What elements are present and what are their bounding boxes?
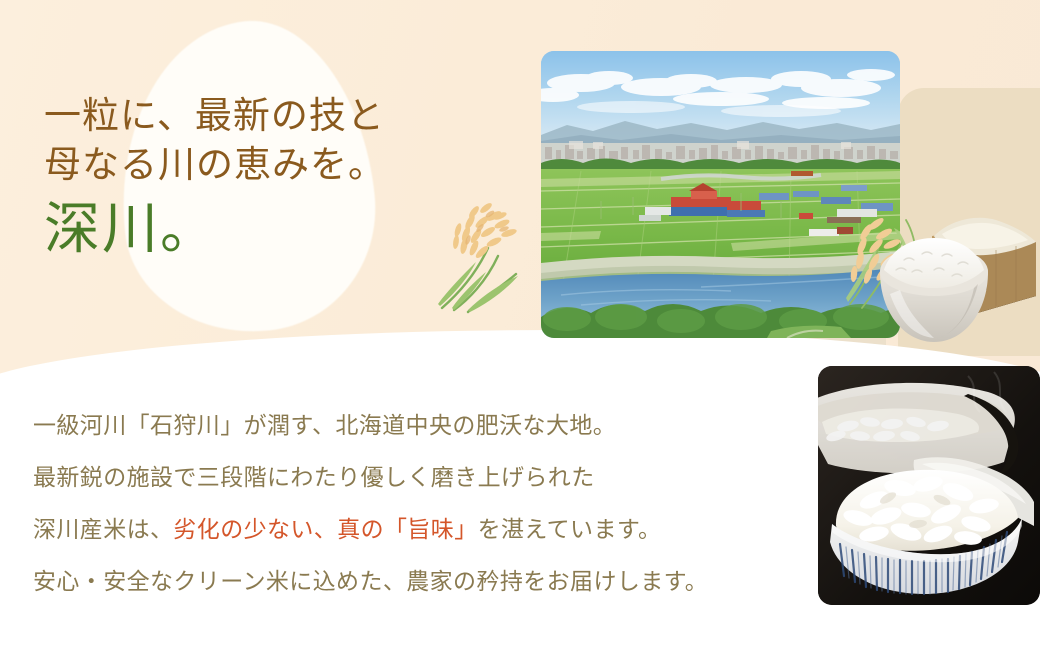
rice-bowl-and-masu-illustration [846, 176, 1040, 362]
body-copy-block: 一級河川「石狩川」が潤す、北海道中央の肥沃な大地。 最新鋭の施設で三段階にわたり… [33, 400, 793, 608]
body-line-3-highlight: 劣化の少ない、真の「旨味」 [173, 517, 477, 542]
headline-line-1: 一粒に、最新の技と [44, 92, 484, 141]
body-line-2: 最新鋭の施設で三段階にわたり優しく磨き上げられた [33, 452, 793, 504]
cooked-rice-bowl-photo [818, 366, 1040, 605]
body-line-3: 深川産米は、劣化の少ない、真の「旨味」を湛えています。 [33, 504, 793, 556]
body-line-1: 一級河川「石狩川」が潤す、北海道中央の肥沃な大地。 [33, 400, 793, 452]
brand-name: 深川。 [44, 194, 484, 266]
body-line-3-part-2: を湛えています。 [478, 517, 662, 542]
headline-line-2: 母なる川の恵みを。 [44, 141, 484, 190]
headline-block: 一粒に、最新の技と 母なる川の恵みを。 深川。 [44, 92, 484, 266]
body-line-4: 安心・安全なクリーン米に込めた、農家の矜持をお届けします。 [33, 556, 793, 608]
rice-stalk-icon [424, 182, 544, 314]
promotional-banner: 一粒に、最新の技と 母なる川の恵みを。 深川。 [0, 0, 1040, 646]
body-line-3-part-1: 深川産米は、 [33, 517, 173, 542]
